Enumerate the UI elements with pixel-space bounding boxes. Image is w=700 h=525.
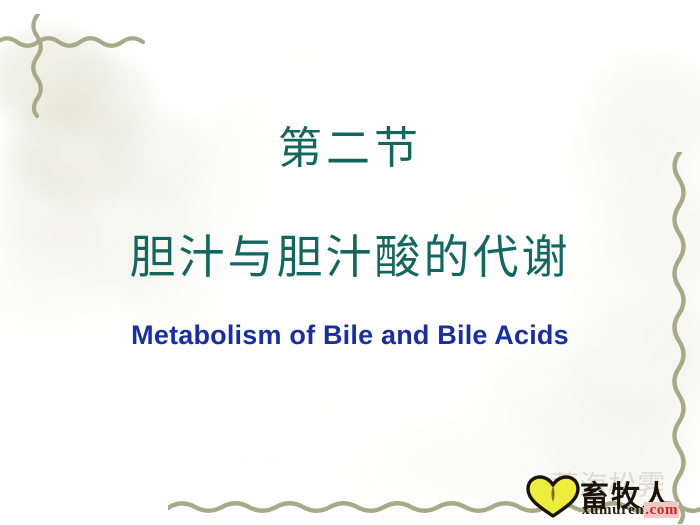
section-label: 第二节 — [0, 126, 700, 173]
foliage-blob — [250, 16, 400, 126]
watermark-tld: .com — [644, 502, 679, 518]
foliage-blob — [0, 30, 112, 128]
watermark-domain: xumuren — [582, 502, 644, 518]
foliage-blob — [490, 338, 614, 442]
watermark-logo: 蓄海松霁 畜牧人 xumuren.com — [524, 462, 700, 524]
page-title: 胆汁与胆汁酸的代谢 — [0, 233, 700, 282]
heart-logo-icon — [526, 474, 580, 518]
page-subtitle: Metabolism of Bile and Bile Acids — [0, 320, 700, 351]
watermark-url: xumuren.com — [582, 502, 679, 519]
wavy-rule-top-horizontal-icon — [0, 30, 148, 54]
foliage-blob — [320, 420, 490, 520]
foliage-blob — [386, 396, 490, 482]
foliage-blob — [564, 300, 700, 426]
wavy-rule-top-vertical-icon — [26, 14, 50, 118]
slide-canvas: 第二节 胆汁与胆汁酸的代谢 Metabolism of Bile and Bil… — [0, 0, 700, 525]
